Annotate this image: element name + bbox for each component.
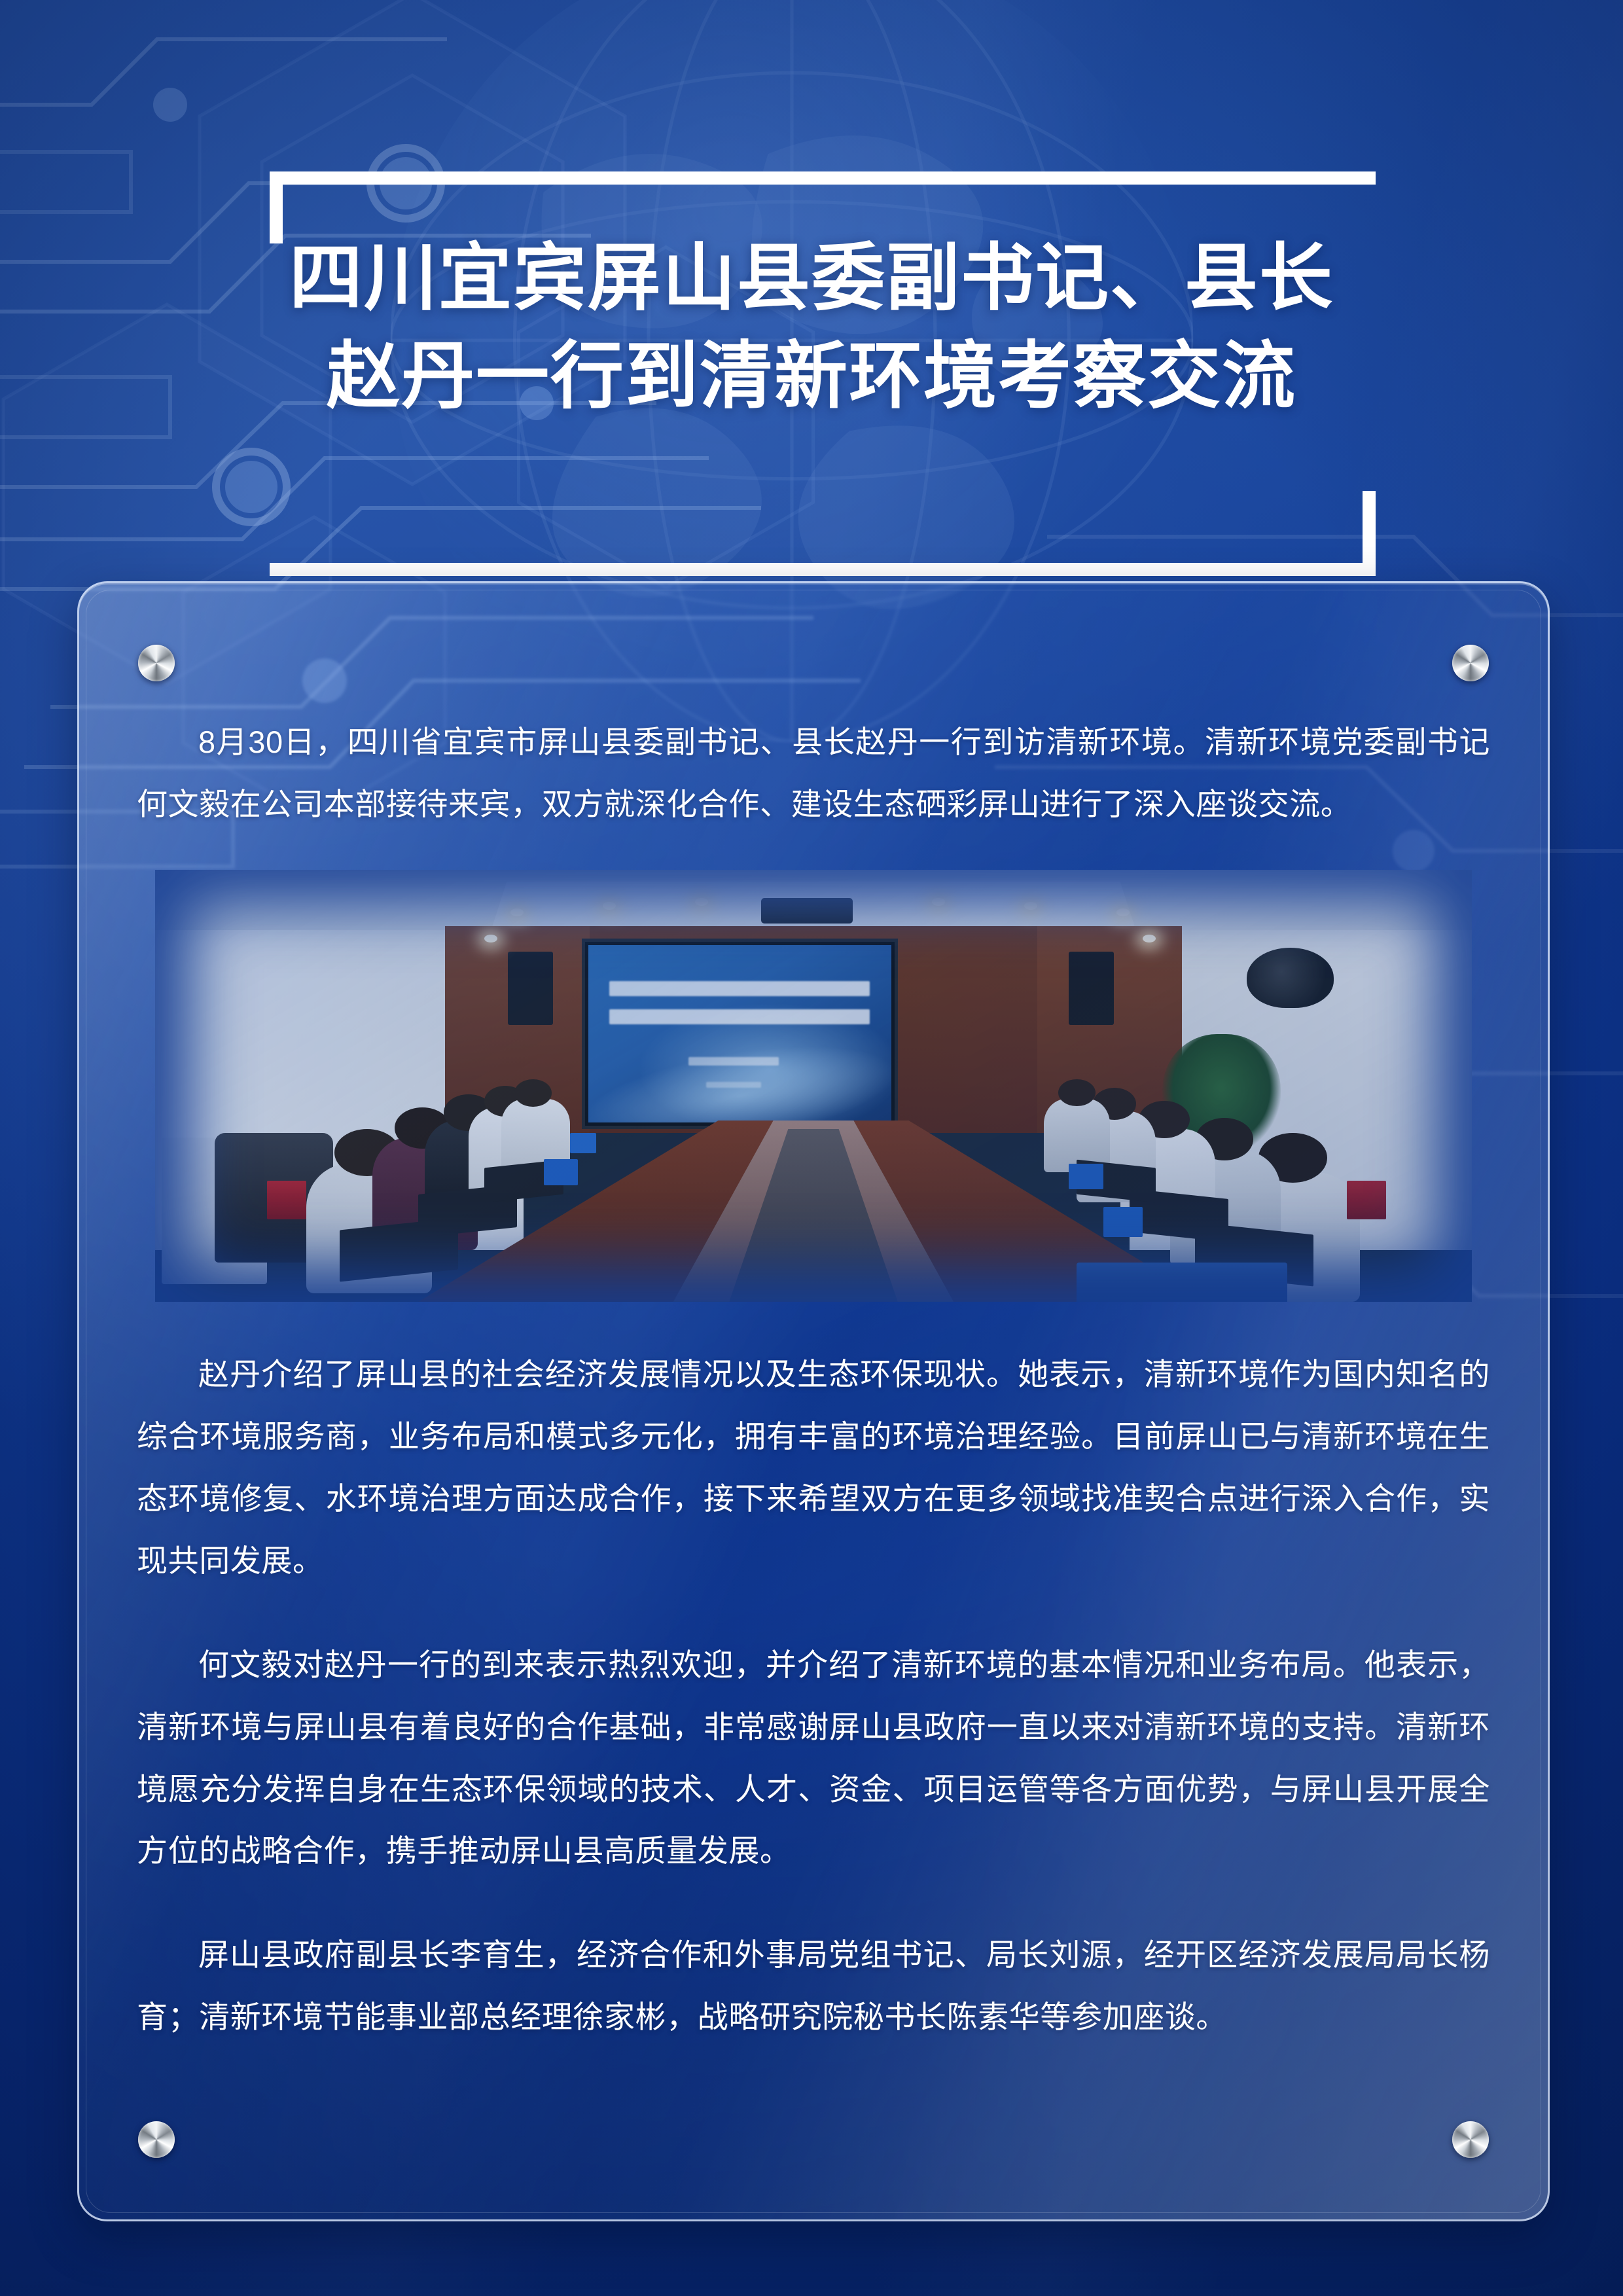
paragraph-1: 8月30日，四川省宜宾市屏山县委副书记、县长赵丹一行到访清新环境。清新环境党委副… bbox=[137, 711, 1490, 836]
projector-screen bbox=[582, 939, 898, 1128]
wall-fan bbox=[1247, 948, 1334, 1008]
paragraph-3: 何文毅对赵丹一行的到来表示热烈欢迎，并介绍了清新环境的基本情况和业务布局。他表示… bbox=[137, 1634, 1490, 1883]
speaker-right bbox=[1069, 952, 1113, 1025]
conference-room-scene bbox=[155, 870, 1472, 1302]
water-box-right-1 bbox=[1069, 1164, 1103, 1190]
vase-left bbox=[267, 1181, 306, 1219]
meeting-photo bbox=[155, 870, 1472, 1302]
paragraph-2: 赵丹介绍了屏山县的社会经济发展情况以及生态环保现状。她表示，清新环境作为国内知名… bbox=[137, 1344, 1490, 1592]
water-box-left-2 bbox=[570, 1133, 596, 1153]
projector-screen-surface bbox=[588, 945, 891, 1122]
water-box-right-2 bbox=[1103, 1207, 1143, 1237]
water-box-left-1 bbox=[544, 1159, 578, 1185]
attendee-right-5-head bbox=[1058, 1079, 1095, 1106]
paragraph-4: 屏山县政府副县长李育生，经济合作和外事局党组书记、局长刘源，经开区经济发展局局长… bbox=[137, 1924, 1490, 2049]
photo-mask bbox=[155, 870, 1472, 1302]
page-title: 四川宜宾屏山县委副书记、县长 赵丹一行到清新环境考察交流 bbox=[0, 229, 1623, 425]
vase-right bbox=[1347, 1181, 1386, 1219]
title-line-1: 四川宜宾屏山县委副书记、县长 bbox=[0, 229, 1623, 327]
article-card: 8月30日，四川省宜宾市屏山县委副书记、县长赵丹一行到访清新环境。清新环境党委副… bbox=[77, 581, 1550, 2221]
attendee-left-5-head bbox=[514, 1079, 551, 1107]
projector bbox=[761, 898, 853, 924]
title-line-2: 赵丹一行到清新环境考察交流 bbox=[0, 327, 1623, 425]
speaker-left bbox=[508, 952, 552, 1025]
poster-header: 四川宜宾屏山县委副书记、县长 赵丹一行到清新环境考察交流 bbox=[0, 0, 1623, 563]
article-body: 8月30日，四川省宜宾市屏山县委副书记、县长赵丹一行到访清新环境。清新环境党委副… bbox=[79, 583, 1548, 2219]
bottom-monitor bbox=[1077, 1263, 1287, 1301]
